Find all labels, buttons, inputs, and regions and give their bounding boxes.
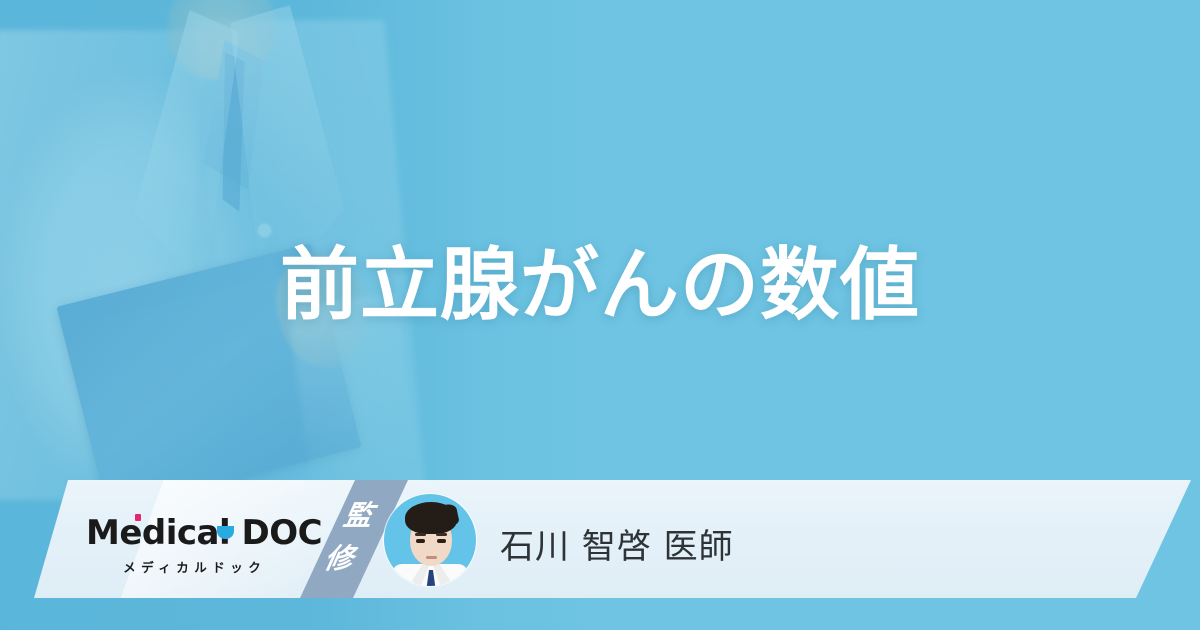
avatar-brow-left	[415, 533, 426, 536]
og-image-canvas: 前立腺がんの数値 Medical DOC メディカルドック 監 修 石川 智啓	[0, 0, 1200, 630]
logo-kana: メディカルドック	[86, 557, 298, 576]
supervisor-name: 石川 智啓 医師	[500, 519, 734, 568]
medical-doc-logo[interactable]: Medical DOC メディカルドック	[86, 516, 298, 576]
logo-wordmark: Medical DOC	[86, 516, 322, 550]
avatar-eye-left	[416, 539, 425, 543]
avatar-brow-right	[436, 533, 447, 536]
avatar	[384, 494, 476, 586]
page-title: 前立腺がんの数値	[0, 243, 1200, 328]
logo-wordmark-text: Medical DOC	[86, 513, 322, 553]
logo-i-dot-icon	[135, 514, 141, 521]
avatar-eye-right	[437, 539, 446, 543]
avatar-mouth	[426, 556, 437, 559]
